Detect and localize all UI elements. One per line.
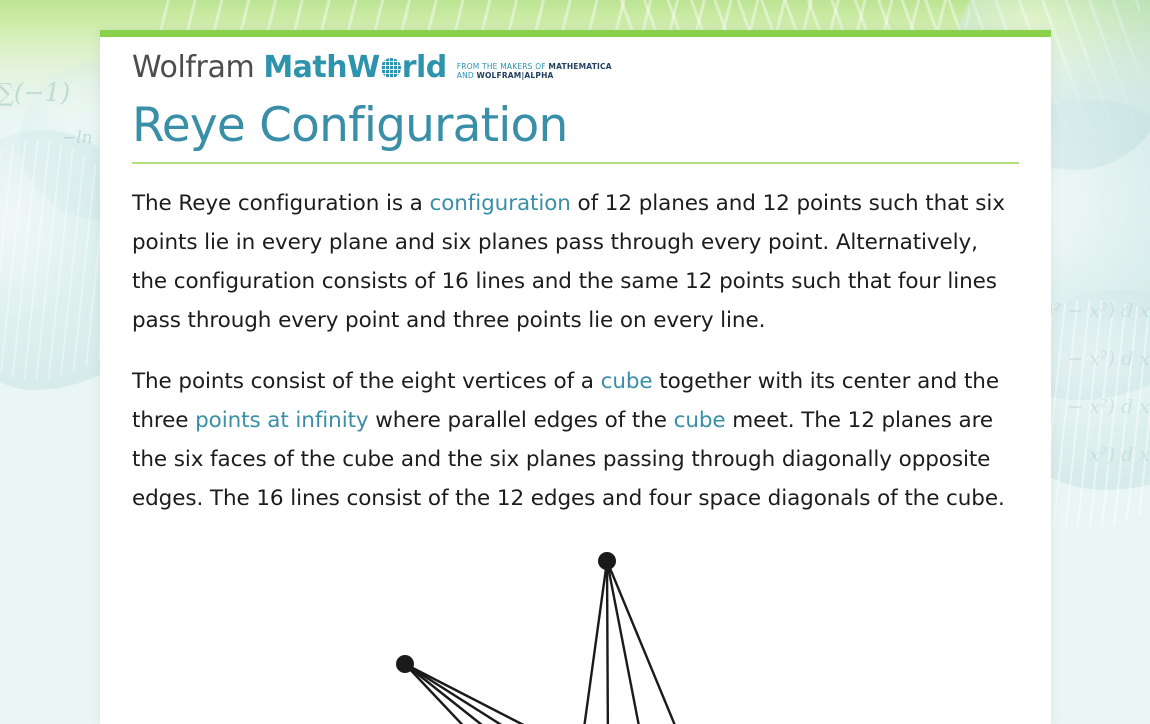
background-formula-right-4: x²) d x bbox=[1034, 444, 1150, 466]
inline-link[interactable]: cube bbox=[674, 408, 726, 433]
logo-world-w: W bbox=[347, 53, 380, 83]
inline-link[interactable]: cube bbox=[601, 369, 653, 394]
paragraph-2: The points consist of the eight vertices… bbox=[132, 362, 1019, 518]
figure-edge bbox=[607, 561, 608, 724]
logo-mathworld-text: MathWrld bbox=[263, 53, 446, 83]
background-formula-left: ∑(−1) bbox=[0, 78, 70, 107]
figure-edge bbox=[581, 561, 607, 724]
paragraph-1: The Reye configuration is a configuratio… bbox=[132, 184, 1019, 340]
inline-link[interactable]: points at infinity bbox=[195, 408, 368, 433]
background-formula-sigma: ∑ bbox=[0, 78, 14, 107]
figure-vertex bbox=[396, 655, 414, 673]
inline-link[interactable]: configuration bbox=[429, 191, 570, 216]
logo-tagline-wolframalpha: WOLFRAM|ALPHA bbox=[476, 71, 553, 80]
reye-configuration-diagram bbox=[376, 540, 776, 724]
logo-tagline-mathematica: MATHEMATICA bbox=[548, 62, 611, 71]
globe-icon bbox=[381, 58, 401, 78]
logo-tagline-line2: AND WOLFRAM|ALPHA bbox=[457, 72, 612, 80]
paragraph-text: The points consist of the eight vertices… bbox=[132, 369, 601, 394]
title-divider bbox=[132, 162, 1019, 164]
background-formula-right-column: (b² − x²) d x − x²) d x − x²) d x x²) d … bbox=[1034, 300, 1150, 492]
logo-wolfram-text: Wolfram bbox=[132, 53, 254, 83]
logo-world-rld: rld bbox=[402, 53, 447, 83]
card-top-accent-bar bbox=[100, 30, 1051, 37]
figure-vertex bbox=[598, 552, 616, 570]
logo-tagline: FROM THE MAKERS OF MATHEMATICA AND WOLFR… bbox=[457, 63, 612, 80]
site-logo[interactable]: Wolfram MathWrld FROM THE MAKERS OF MATH… bbox=[132, 37, 1019, 83]
background-formula-body: (−1) bbox=[14, 78, 70, 107]
logo-math-word: Math bbox=[263, 53, 347, 83]
figure-edge bbox=[607, 561, 686, 724]
background-formula-left-2: −ln bbox=[62, 128, 93, 148]
background-formula-right-2: − x²) d x bbox=[1034, 348, 1150, 370]
figure-edge bbox=[405, 664, 544, 724]
paragraph-text: The Reye configuration is a bbox=[132, 191, 429, 216]
figure-container bbox=[132, 540, 1019, 724]
paragraph-text: where parallel edges of the bbox=[369, 408, 674, 433]
page-title: Reye Configuration bbox=[132, 101, 1019, 150]
logo-tagline-line2-prefix: AND bbox=[457, 71, 477, 80]
background-formula-right-3: − x²) d x bbox=[1034, 396, 1150, 418]
content-card: Wolfram MathWrld FROM THE MAKERS OF MATH… bbox=[100, 30, 1051, 724]
article-body: The Reye configuration is a configuratio… bbox=[132, 184, 1019, 518]
figure-edge bbox=[607, 561, 644, 724]
background-formula-right-1: (b² − x²) d x bbox=[1034, 300, 1150, 322]
figure-edge bbox=[405, 664, 576, 724]
